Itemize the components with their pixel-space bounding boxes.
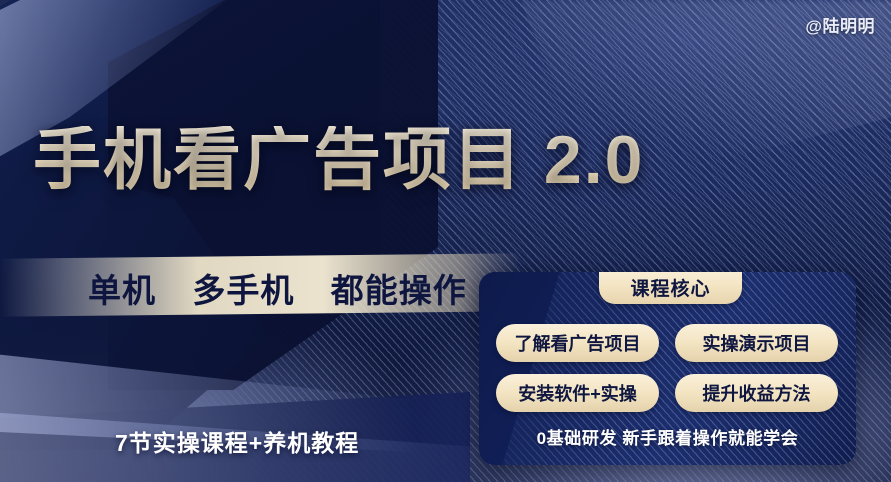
subtitle-part-1: 单机 [88,272,156,309]
subtitle: 单机 多手机 都能操作 [88,264,467,312]
subtitle-part-2: 多手机 [192,272,294,309]
footer-left-text: 7节实操课程+养机教程 [115,424,359,458]
feature-pill-3[interactable]: 安装软件+实操 [496,374,659,412]
feature-pill-4[interactable]: 提升收益方法 [675,374,838,412]
page-title: 手机看广告项目 2.0 [33,126,644,194]
watermark-handle: @陆明明 [805,12,875,37]
feature-pill-2[interactable]: 实操演示项目 [675,324,838,362]
feature-pill-1[interactable]: 了解看广告项目 [496,324,659,362]
panel-footer-text: 0基础研发 新手跟着操作就能学会 [479,424,856,449]
poster-canvas: @陆明明 手机看广告项目 2.0 单机 多手机 都能操作 7节实操课程+养机教程… [0,0,891,482]
subtitle-part-3: 都能操作 [331,272,467,309]
panel-header-pill: 课程核心 [599,272,742,304]
course-core-panel: 课程核心 了解看广告项目 实操演示项目 安装软件+实操 提升收益方法 0基础研发… [479,272,856,465]
